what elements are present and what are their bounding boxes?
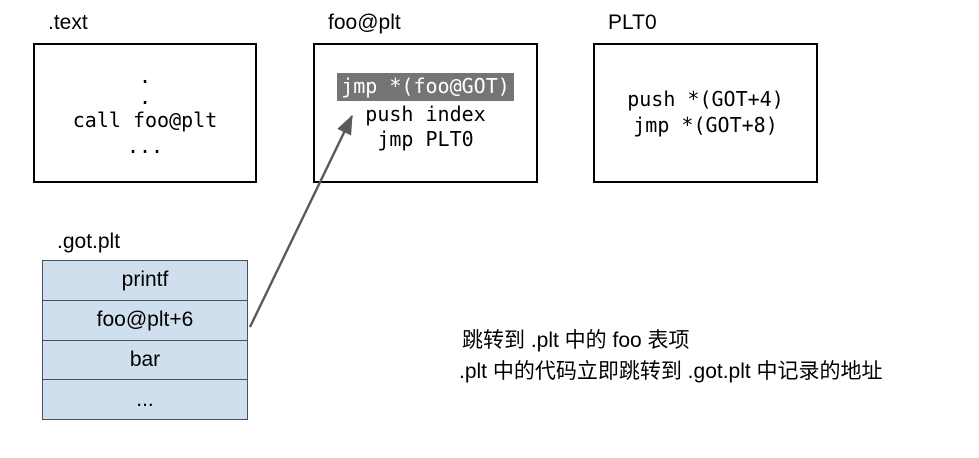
table-row: foo@plt+6	[43, 301, 247, 341]
plt0-box-line-1: push *(GOT+4)	[627, 87, 784, 113]
diagram-canvas: .text . . call foo@plt ... foo@plt jmp *…	[0, 0, 979, 458]
text-box-line-1: .	[139, 66, 151, 87]
text-section-box: . . call foo@plt ...	[33, 43, 257, 183]
table-row: bar	[43, 341, 247, 381]
table-row: printf	[43, 261, 247, 301]
plt0-box-line-2: jmp *(GOT+8)	[633, 113, 778, 139]
plt-box-line-3: jmp PLT0	[377, 127, 473, 153]
plt-box-line-2: push index	[365, 102, 485, 128]
plt-section-box: jmp *(foo@GOT) push index jmp PLT0	[313, 43, 538, 183]
plt0-section-box: push *(GOT+4) jmp *(GOT+8)	[593, 43, 818, 183]
got-plt-table: printf foo@plt+6 bar ...	[42, 260, 248, 420]
got-section-caption: .got.plt	[57, 231, 120, 252]
plt0-section-caption: PLT0	[608, 12, 657, 33]
text-box-line-2: .	[139, 87, 151, 108]
table-row: ...	[43, 380, 247, 419]
text-box-line-4: ...	[127, 134, 163, 160]
text-box-line-3: call foo@plt	[73, 108, 218, 134]
annotation-line-1: 跳转到 .plt 中的 foo 表项	[462, 326, 690, 356]
annotation-line-2: .plt 中的代码立即跳转到 .got.plt 中记录的地址	[459, 357, 883, 387]
text-section-caption: .text	[48, 12, 88, 33]
plt-section-caption: foo@plt	[328, 12, 401, 33]
plt-box-highlighted-line: jmp *(foo@GOT)	[337, 73, 514, 101]
